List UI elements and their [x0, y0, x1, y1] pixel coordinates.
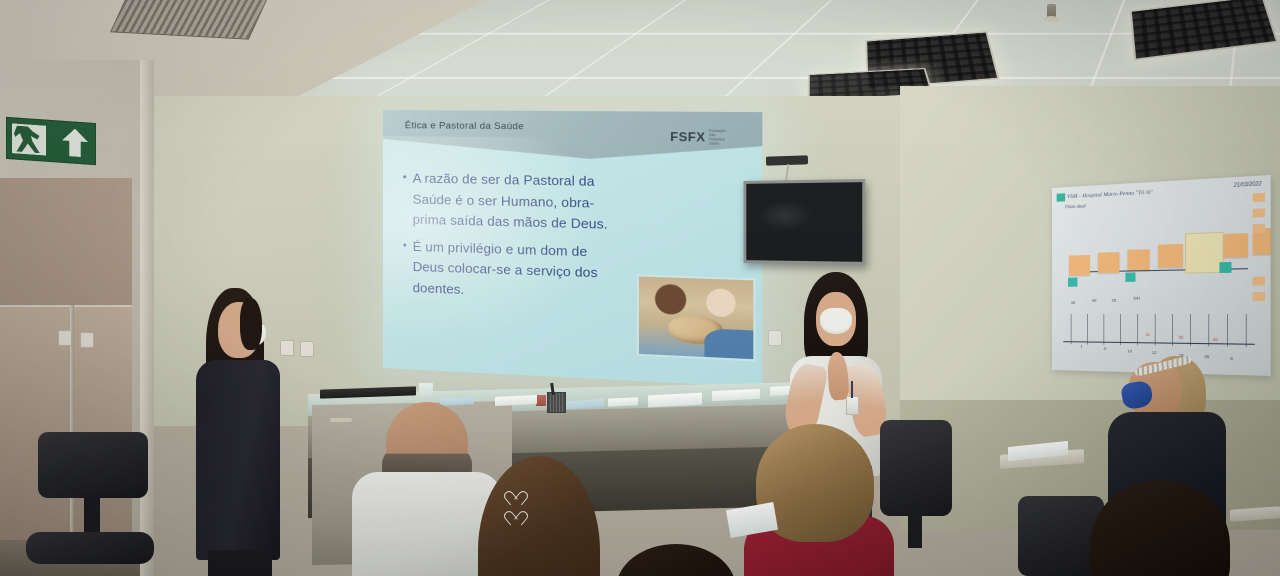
- vsm-metric: 40: [1092, 298, 1096, 303]
- fire-sprinkler-icon: [1047, 4, 1056, 20]
- wall-outlet[interactable]: [80, 332, 94, 348]
- vsm-metric: 25: [1112, 298, 1116, 303]
- attendee-dark-hair: [1090, 480, 1240, 576]
- wall-outlet[interactable]: [768, 330, 782, 346]
- wall-outlet[interactable]: [300, 341, 314, 357]
- slide-bullet: • A razão de ser da Pastoral da Saúde é …: [403, 168, 745, 239]
- wall-mounted-tv[interactable]: [744, 179, 866, 265]
- bullet-dot-icon: •: [403, 168, 407, 230]
- slide-title: Ética e Pastoral da Saúde: [405, 120, 524, 132]
- trousers: [208, 550, 272, 576]
- timeline-highlight: 20: [1213, 337, 1218, 342]
- vsm-timeline-sawtooth: [1063, 314, 1255, 347]
- sticky-note: [1158, 244, 1183, 268]
- sticky-note-data: [1185, 232, 1224, 274]
- sticky-note: [1224, 233, 1248, 258]
- cabinet-handle[interactable]: [330, 418, 352, 422]
- sticky-note: [1219, 262, 1231, 273]
- hair: [616, 544, 736, 576]
- patient-shirt-detail: [705, 329, 756, 362]
- sticky-note: [1098, 252, 1120, 273]
- sticky-note-column: [1253, 208, 1265, 217]
- blazer: [196, 360, 280, 560]
- sticky-note-column: [1253, 193, 1265, 202]
- timeline-number: 10: [1127, 348, 1131, 353]
- hair: [478, 456, 600, 576]
- timeline-highlight: 52: [1179, 334, 1184, 339]
- bullet-dot-icon: •: [403, 236, 407, 298]
- timeline-number: 1: [1080, 343, 1082, 348]
- left-wall-corner: [140, 60, 154, 576]
- fsfx-logo: FSFX Fundação São Francisco Xavier: [670, 128, 731, 145]
- vsm-metric: 541: [1133, 295, 1140, 300]
- poster-corner-sticky: [1057, 193, 1065, 202]
- vsm-metric: 45: [1071, 300, 1075, 305]
- sticky-note: [1068, 278, 1078, 287]
- vsm-whiteboard-poster: VSM - Hospital Mário Penna "Tô lá" 21/03…: [1052, 175, 1271, 376]
- sticky-note: [1125, 272, 1135, 282]
- heart-hair-clip-icon: [508, 506, 523, 519]
- attendee-dark-hair-front: [616, 544, 736, 576]
- projection-screen: Ética e Pastoral da Saúde FSFX Fundação …: [383, 110, 762, 387]
- running-person-icon: [12, 123, 46, 155]
- photo-scene: Ética e Pastoral da Saúde FSFX Fundação …: [0, 0, 1280, 576]
- sticky-note-column: [1253, 224, 1265, 233]
- sticky-note: [1127, 249, 1149, 270]
- loose-paper: [608, 397, 638, 407]
- id-badge: [846, 396, 859, 415]
- bullet-text: A razão de ser da Pastoral da Saúde é o …: [413, 168, 608, 235]
- timeline-highlight: 11: [1146, 332, 1150, 337]
- timeline-number: 3: [1104, 346, 1106, 351]
- attendee-heart-clips: [478, 456, 608, 576]
- red-mug: [536, 395, 546, 406]
- plastic-cup: [419, 383, 433, 398]
- presentation-slide: Ética e Pastoral da Saúde FSFX Fundação …: [383, 110, 762, 387]
- screen-glare: [757, 200, 812, 231]
- bullet-text: É um privilégio e um dom de Deus colocar…: [413, 236, 598, 305]
- wall-outlet[interactable]: [58, 330, 72, 346]
- pen-holder: [547, 392, 566, 413]
- attendee-burgundy: [756, 424, 916, 576]
- face-mask: [820, 308, 852, 334]
- office-chair-back[interactable]: [38, 432, 148, 498]
- slide-photo-holding-hands: [637, 274, 756, 361]
- up-arrow-icon: [62, 128, 88, 158]
- hair: [1090, 480, 1230, 576]
- sticky-note: [1069, 255, 1090, 276]
- sticky-note-column: [1253, 292, 1265, 301]
- poster-subtitle: Fluxo atual: [1065, 203, 1086, 209]
- presenter-blazer: [196, 282, 296, 576]
- emergency-exit-sign: [6, 117, 96, 165]
- sticky-note-column: [1253, 277, 1265, 286]
- hair-front-strand: [240, 298, 262, 350]
- office-chair-seat[interactable]: [26, 532, 154, 564]
- logo-subtext: Fundação São Francisco Xavier: [709, 129, 731, 146]
- timeline-number: 12: [1152, 350, 1157, 355]
- logo-wordmark: FSFX: [670, 129, 705, 144]
- heart-hair-clip-icon: [508, 486, 523, 499]
